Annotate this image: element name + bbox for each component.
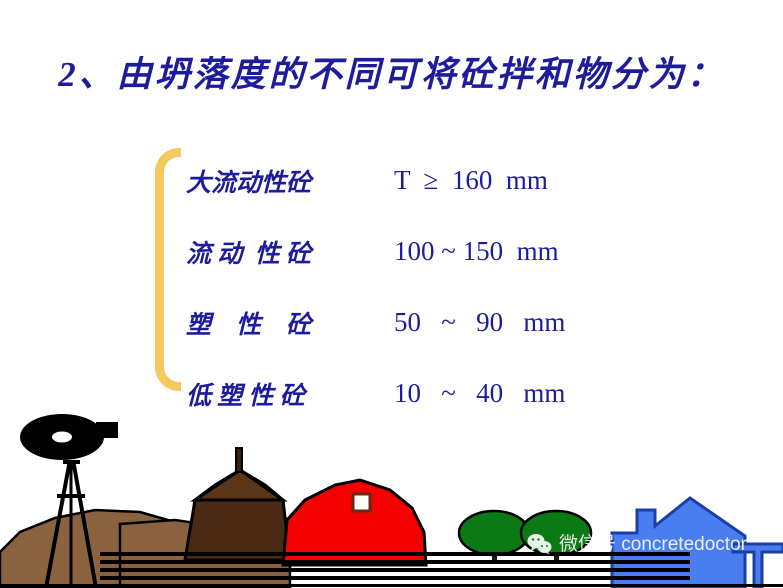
table-row: 塑 性 砼 50 ~ 90 mm: [186, 287, 656, 358]
group-bracket: [155, 148, 181, 391]
row-label: 塑 性 砼: [186, 305, 376, 341]
brown-barn-shape: [185, 448, 290, 560]
windmill-fan: [20, 414, 118, 460]
row-label: 流 动 性 砼: [186, 234, 376, 270]
tree-shape: [459, 511, 529, 564]
blue-house-shape: [612, 498, 783, 588]
row-label: 大流动性砼: [186, 163, 376, 199]
slide-canvas: 2、由坍落度的不同可将砼拌和物分为： 大流动性砼 T ≥ 160 mm 流 动 …: [0, 0, 783, 588]
table-row: 大流动性砼 T ≥ 160 mm: [186, 145, 656, 216]
farm-landscape-illustration: [0, 400, 783, 588]
row-value: T ≥ 160 mm: [376, 165, 656, 196]
page-title: 2、由坍落度的不同可将砼拌和物分为：: [0, 46, 783, 97]
consistency-table: 大流动性砼 T ≥ 160 mm 流 动 性 砼 100 ~ 150 mm 塑 …: [186, 145, 656, 429]
tree-shape: [521, 511, 591, 564]
row-value: 100 ~ 150 mm: [376, 236, 656, 267]
row-value: 50 ~ 90 mm: [376, 307, 656, 338]
table-row: 流 动 性 砼 100 ~ 150 mm: [186, 216, 656, 287]
